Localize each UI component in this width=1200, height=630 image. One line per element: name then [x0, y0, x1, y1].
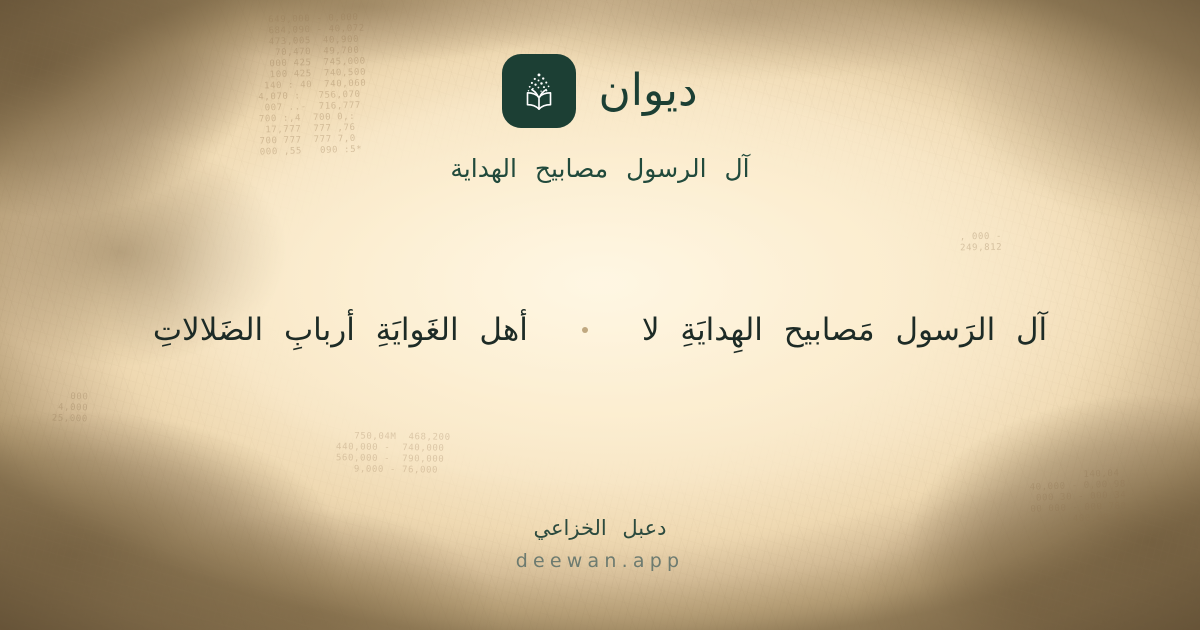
dot-separator-icon: [582, 327, 588, 333]
site-url[interactable]: deewan.app: [516, 550, 684, 572]
poet-name: دعبل الخزاعي: [533, 516, 666, 540]
verse-hemistich-second: أهل الغَوايَةِ أربابِ الضَلالاتِ: [153, 312, 528, 348]
card-content: ديوان آل الرسول مصابيح الهداية آل الرَسو…: [0, 0, 1200, 630]
verse-line: آل الرَسول مَصابيح الهِدايَةِ لا أهل الغ…: [0, 312, 1200, 348]
verse-hemistich-first: آل الرَسول مَصابيح الهِدايَةِ لا: [642, 312, 1047, 348]
open-book-sparkles-icon: [502, 54, 576, 128]
card-footer: دعبل الخزاعي deewan.app: [0, 516, 1200, 572]
brand-header: ديوان: [502, 54, 697, 128]
card-subtitle: آل الرسول مصابيح الهداية: [450, 154, 749, 183]
brand-name: ديوان: [598, 69, 697, 113]
share-card: 0,000 - 649,000 40,072 - 684,090 40,900 …: [0, 0, 1200, 630]
